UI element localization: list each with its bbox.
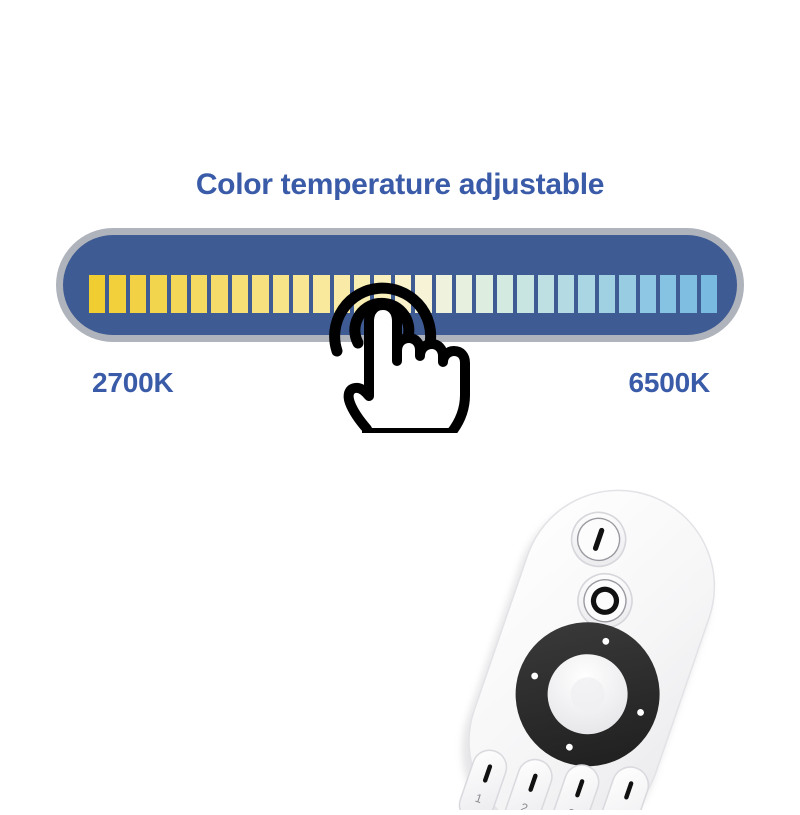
slider-segment[interactable] — [171, 275, 187, 313]
slider-max-label: 6500K — [628, 367, 710, 399]
slider-segment[interactable] — [640, 275, 656, 313]
slider-segment[interactable] — [211, 275, 227, 313]
tap-hand-cursor — [305, 243, 485, 433]
slider-segment[interactable] — [252, 275, 268, 313]
slider-segment[interactable] — [701, 275, 717, 313]
slider-segment[interactable] — [232, 275, 248, 313]
slider-segment[interactable] — [497, 275, 513, 313]
slider-segment[interactable] — [599, 275, 615, 313]
slider-segment[interactable] — [680, 275, 696, 313]
slider-segment[interactable] — [109, 275, 125, 313]
slider-segment[interactable] — [150, 275, 166, 313]
slider-segment[interactable] — [660, 275, 676, 313]
slider-segment[interactable] — [191, 275, 207, 313]
slider-segment[interactable] — [130, 275, 146, 313]
slider-segment[interactable] — [558, 275, 574, 313]
product-feature-illustration: Color temperature adjustable 2700K 6500K — [0, 0, 800, 800]
slider-segment[interactable] — [273, 275, 289, 313]
rf-remote-control: 1 2 3 4 — [430, 470, 800, 810]
slider-segment[interactable] — [517, 275, 533, 313]
slider-segment[interactable] — [89, 275, 105, 313]
slider-segment[interactable] — [619, 275, 635, 313]
slider-segment[interactable] — [578, 275, 594, 313]
page-title: Color temperature adjustable — [0, 168, 800, 202]
slider-min-label: 2700K — [92, 367, 174, 399]
slider-segment[interactable] — [538, 275, 554, 313]
